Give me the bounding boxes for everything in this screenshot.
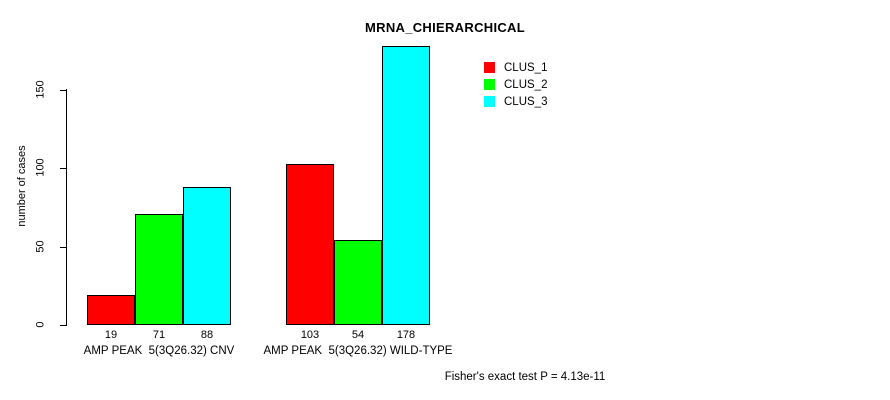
y-axis-tick-mark bbox=[60, 325, 66, 326]
bar-clus_2 bbox=[334, 240, 382, 325]
bar-chart-plot: MRNA_CHIERARCHICAL number of cases 05010… bbox=[0, 0, 890, 400]
legend-item-label: CLUS_2 bbox=[504, 79, 547, 91]
legend-color-swatch bbox=[484, 79, 495, 90]
bar-value-label: 178 bbox=[382, 329, 430, 341]
bar-value-label: 54 bbox=[334, 329, 382, 341]
y-axis-line bbox=[66, 89, 67, 326]
bar-value-label: 19 bbox=[87, 329, 135, 341]
bar-clus_1 bbox=[87, 295, 135, 325]
y-axis-tick-mark bbox=[60, 168, 66, 169]
bar-clus_1 bbox=[286, 164, 334, 325]
legend-color-swatch bbox=[484, 62, 495, 73]
legend-item-label: CLUS_3 bbox=[504, 96, 547, 108]
bar-clus_3 bbox=[183, 187, 231, 325]
legend-item: CLUS_1 bbox=[484, 60, 547, 75]
y-axis-tick-mark bbox=[60, 90, 66, 91]
bar-value-label: 88 bbox=[183, 329, 231, 341]
y-axis-title: number of cases bbox=[16, 126, 28, 246]
bar-value-label: 71 bbox=[135, 329, 183, 341]
y-axis-tick-label: 50 bbox=[28, 241, 54, 252]
y-axis-tick-mark bbox=[60, 247, 66, 248]
legend-item-label: CLUS_1 bbox=[504, 62, 547, 74]
legend-item: CLUS_2 bbox=[484, 77, 547, 92]
y-axis-tick-label: 150 bbox=[28, 84, 54, 95]
y-axis-tick-label: 0 bbox=[28, 319, 54, 330]
statistical-test-annotation: Fisher's exact test P = 4.13e-11 bbox=[0, 371, 890, 383]
y-axis-tick-label: 100 bbox=[28, 162, 54, 173]
legend-color-swatch bbox=[484, 96, 495, 107]
x-axis-group-label: AMP PEAK 5(3Q26.32) WILD-TYPE bbox=[226, 345, 490, 358]
bar-clus_2 bbox=[135, 214, 183, 325]
bar-clus_3 bbox=[382, 46, 430, 325]
chart-title: MRNA_CHIERARCHICAL bbox=[0, 20, 890, 35]
bar-value-label: 103 bbox=[286, 329, 334, 341]
chart-legend: CLUS_1CLUS_2CLUS_3 bbox=[484, 60, 547, 111]
legend-item: CLUS_3 bbox=[484, 94, 547, 109]
